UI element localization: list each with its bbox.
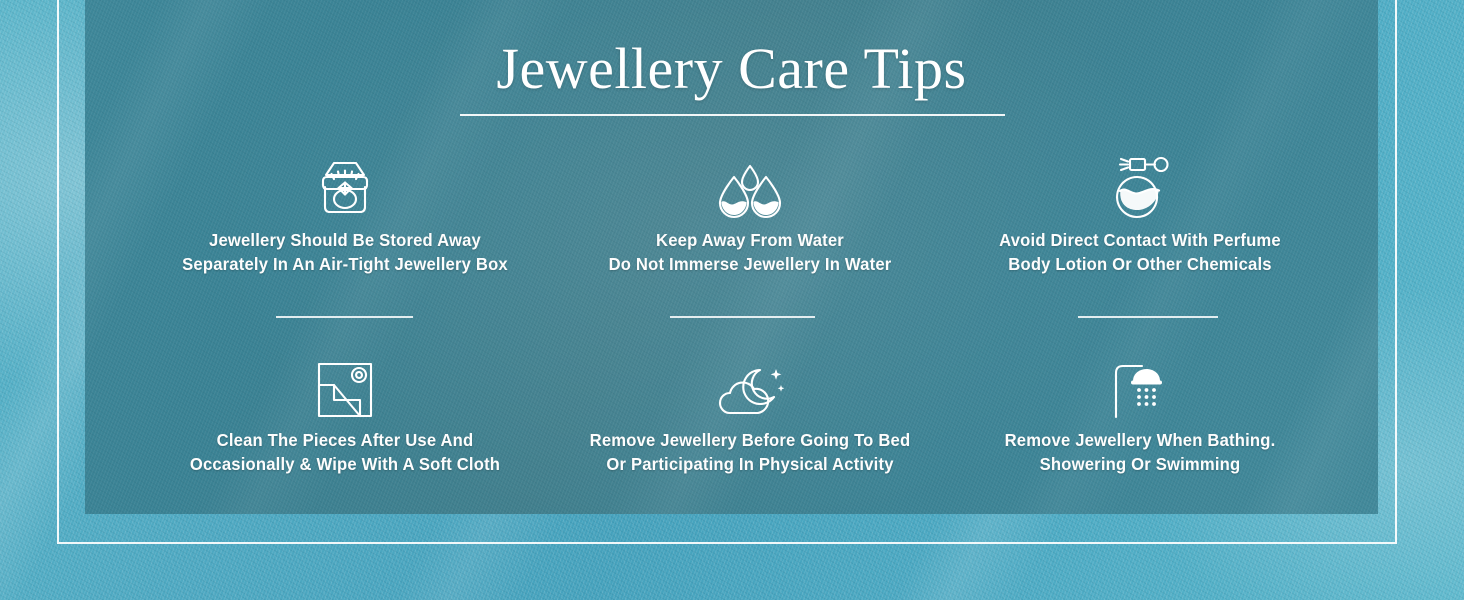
- tip-text-perfume: Avoid Direct Contact With Perfume Body L…: [950, 229, 1330, 277]
- tip-card-cleaning: Clean The Pieces After Use And Occasiona…: [130, 355, 560, 477]
- divider-line-2: [670, 316, 815, 318]
- tip-text-bedtime: Remove Jewellery Before Going To Bed Or …: [565, 429, 936, 477]
- divider-line-3: [1078, 316, 1218, 318]
- tip-card-perfume: Avoid Direct Contact With Perfume Body L…: [940, 155, 1340, 277]
- tip-card-storage: Jewellery Should Be Stored Away Separate…: [130, 155, 560, 277]
- jewellery-box-ring-icon: [130, 155, 560, 219]
- tip-text-cleaning: Clean The Pieces After Use And Occasiona…: [141, 429, 550, 477]
- title-underline-rule: [460, 114, 1005, 116]
- tip-card-bathing: Remove Jewellery When Bathing. Showering…: [940, 355, 1340, 477]
- tip-text-storage: Jewellery Should Be Stored Away Separate…: [141, 229, 550, 277]
- water-droplets-icon: [555, 155, 945, 219]
- polishing-cloth-icon: [130, 355, 560, 419]
- tip-card-bedtime: Remove Jewellery Before Going To Bed Or …: [555, 355, 945, 477]
- panel-content: Jewellery Care Tips: [85, 0, 1378, 514]
- care-tips-panel: Jewellery Care Tips: [85, 0, 1378, 514]
- tip-text-bathing: Remove Jewellery When Bathing. Showering…: [950, 429, 1330, 477]
- perfume-bottle-icon: [940, 155, 1340, 219]
- shower-head-icon: [940, 355, 1340, 419]
- moon-cloud-night-icon: [555, 355, 945, 419]
- page-title: Jewellery Care Tips: [85, 40, 1378, 98]
- divider-line-1: [276, 316, 413, 318]
- tip-card-water: Keep Away From Water Do Not Immerse Jewe…: [555, 155, 945, 277]
- tip-text-water: Keep Away From Water Do Not Immerse Jewe…: [565, 229, 936, 277]
